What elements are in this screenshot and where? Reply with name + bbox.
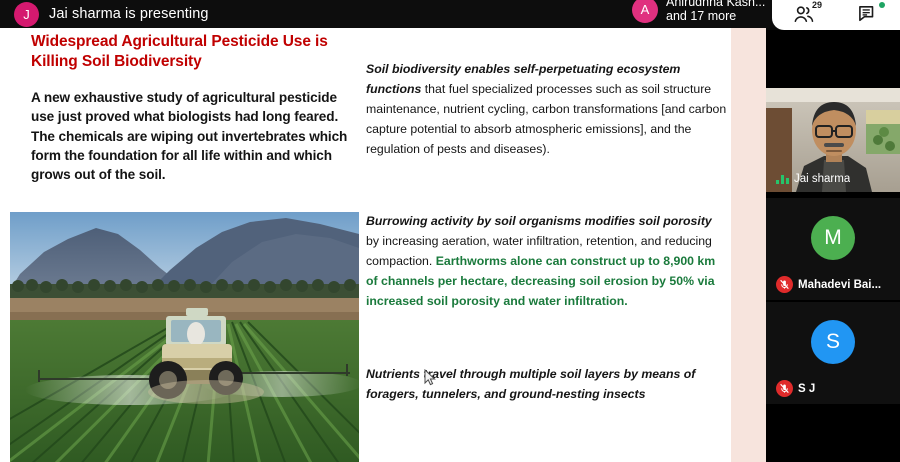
presenting-label: Jai sharma is presenting xyxy=(49,6,209,22)
tile-label-2: S J xyxy=(766,380,900,397)
top-status-bar: J Jai sharma is presenting A Anirudhha K… xyxy=(0,0,900,28)
participant-avatar-2: S xyxy=(811,320,855,364)
chat-button[interactable] xyxy=(848,2,888,26)
chat-icon xyxy=(858,5,878,23)
slide-paragraph-2: Burrowing activity by soil organisms mod… xyxy=(366,212,728,312)
tile-label-1: Mahadevi Bai... xyxy=(766,276,900,293)
other-participants-more: and 17 more xyxy=(666,10,765,24)
paragraph-2-lead: Burrowing activity by soil organisms mod… xyxy=(366,214,712,228)
video-tile-jai-sharma[interactable]: Jai sharma xyxy=(766,88,900,192)
participant-name-1: Mahadevi Bai... xyxy=(798,279,881,291)
slide-title: Widespread Agricultural Pesticide Use is… xyxy=(31,32,361,72)
paragraph-1-rest: that fuel specialized processes such as … xyxy=(366,82,726,156)
slide-paragraph-1: Soil biodiversity enables self-perpetuat… xyxy=(366,60,728,160)
tile-label-0: Jai sharma xyxy=(766,173,900,185)
presenter-avatar: J xyxy=(14,2,39,27)
meeting-controls-panel: 29 xyxy=(772,0,900,30)
presenting-status: J Jai sharma is presenting xyxy=(14,0,209,28)
presentation-slide[interactable]: Widespread Agricultural Pesticide Use is… xyxy=(0,28,731,462)
meeting-window: Widespread Agricultural Pesticide Use is… xyxy=(0,0,900,462)
mic-muted-icon xyxy=(776,380,793,397)
slide-left-paragraph: A new exhaustive study of agricultural p… xyxy=(31,88,356,184)
other-participants-chip[interactable]: A Anirudhha Kash... and 17 more xyxy=(632,0,765,26)
video-tile-mahadevi[interactable]: M Mahadevi Bai... xyxy=(766,198,900,300)
speaking-indicator-icon xyxy=(776,174,789,184)
participants-button[interactable]: 29 xyxy=(784,2,824,26)
slide-right-band xyxy=(731,28,766,462)
participant-avatar-1: M xyxy=(811,216,855,260)
other-participant-avatar: A xyxy=(632,0,658,23)
slide-photo xyxy=(10,212,359,462)
participants-sidebar[interactable]: Jai sharma M Mahadevi Bai... S xyxy=(766,30,900,462)
pesticide-spraying-image xyxy=(10,212,359,462)
participant-name-0: Jai sharma xyxy=(794,173,850,185)
slide-paragraph-3: Nutrients travel through multiple soil l… xyxy=(366,365,728,405)
chat-unread-badge xyxy=(879,2,885,8)
participant-name-2: S J xyxy=(798,383,815,395)
mic-muted-icon xyxy=(776,276,793,293)
mouse-cursor-icon xyxy=(424,369,438,387)
participants-count: 29 xyxy=(812,0,822,10)
video-tile-sj[interactable]: S S J xyxy=(766,302,900,404)
other-participants-names: Anirudhha Kash... and 17 more xyxy=(666,0,765,23)
